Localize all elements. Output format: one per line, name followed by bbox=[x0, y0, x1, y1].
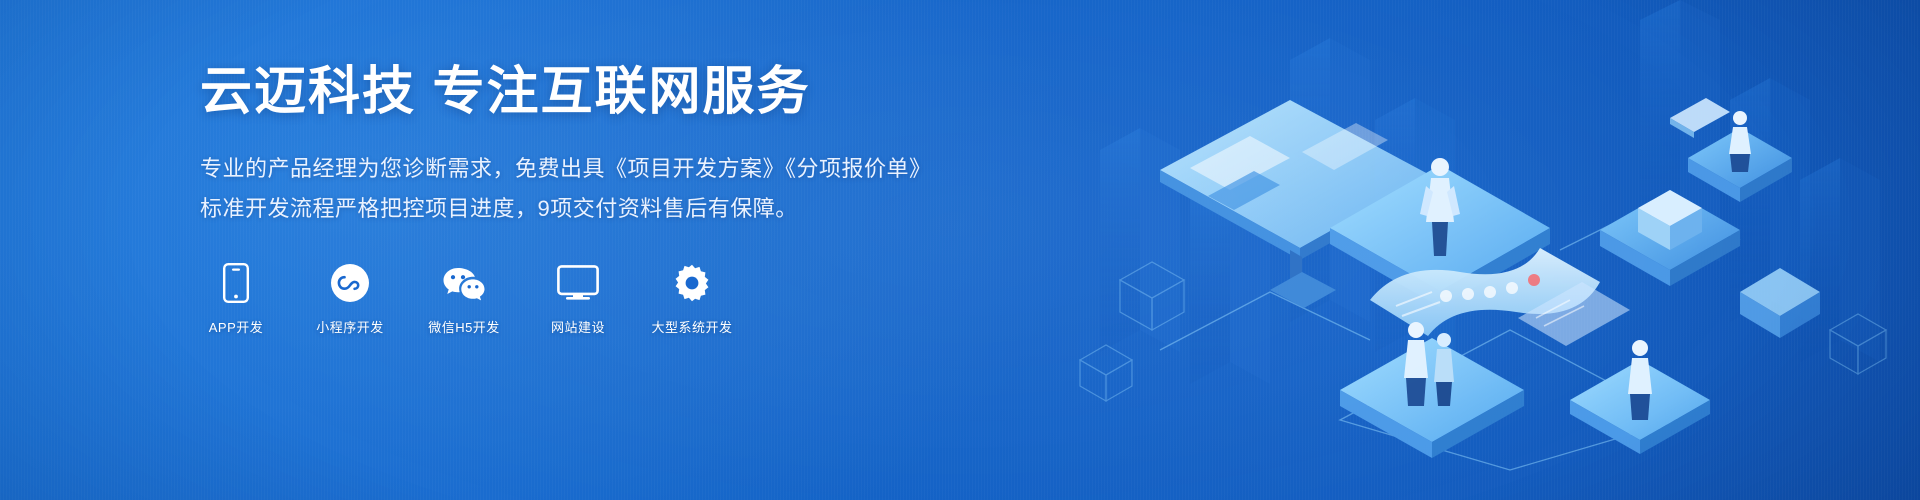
service-label: APP开发 bbox=[209, 317, 264, 336]
isometric-illustration bbox=[1040, 0, 1920, 500]
service-item-system[interactable]: 大型系统开发 bbox=[656, 262, 728, 336]
page-title: 云迈科技 专注互联网服务 bbox=[200, 62, 920, 123]
service-item-app[interactable]: APP开发 bbox=[200, 262, 272, 336]
service-label: 小程序开发 bbox=[316, 317, 384, 336]
service-label: 大型系统开发 bbox=[652, 317, 733, 336]
mobile-phone-icon bbox=[223, 262, 249, 304]
banner-subtitle: 专业的产品经理为您诊断需求，免费出具《项目开发方案》《分项报价单》 标准开发流程… bbox=[200, 149, 920, 227]
service-item-miniprogram[interactable]: 小程序开发 bbox=[314, 262, 386, 336]
banner-content: 云迈科技 专注互联网服务 专业的产品经理为您诊断需求，免费出具《项目开发方案》《… bbox=[200, 62, 920, 336]
service-list: APP开发 小程序开发 bbox=[200, 262, 920, 336]
service-item-website[interactable]: 网站建设 bbox=[542, 262, 614, 336]
hero-banner: 云迈科技 专注互联网服务 专业的产品经理为您诊断需求，免费出具《项目开发方案》《… bbox=[0, 0, 1920, 500]
subtitle-line-2: 标准开发流程严格把控项目进度，9项交付资料售后有保障。 bbox=[200, 189, 920, 228]
wechat-icon bbox=[442, 262, 486, 304]
gear-icon bbox=[672, 262, 712, 304]
monitor-icon bbox=[557, 262, 599, 304]
mini-program-icon bbox=[330, 262, 370, 304]
service-label: 网站建设 bbox=[551, 317, 605, 336]
service-item-wechat[interactable]: 微信H5开发 bbox=[428, 262, 500, 336]
subtitle-line-1: 专业的产品经理为您诊断需求，免费出具《项目开发方案》《分项报价单》 bbox=[200, 149, 920, 188]
service-label: 微信H5开发 bbox=[428, 317, 500, 336]
